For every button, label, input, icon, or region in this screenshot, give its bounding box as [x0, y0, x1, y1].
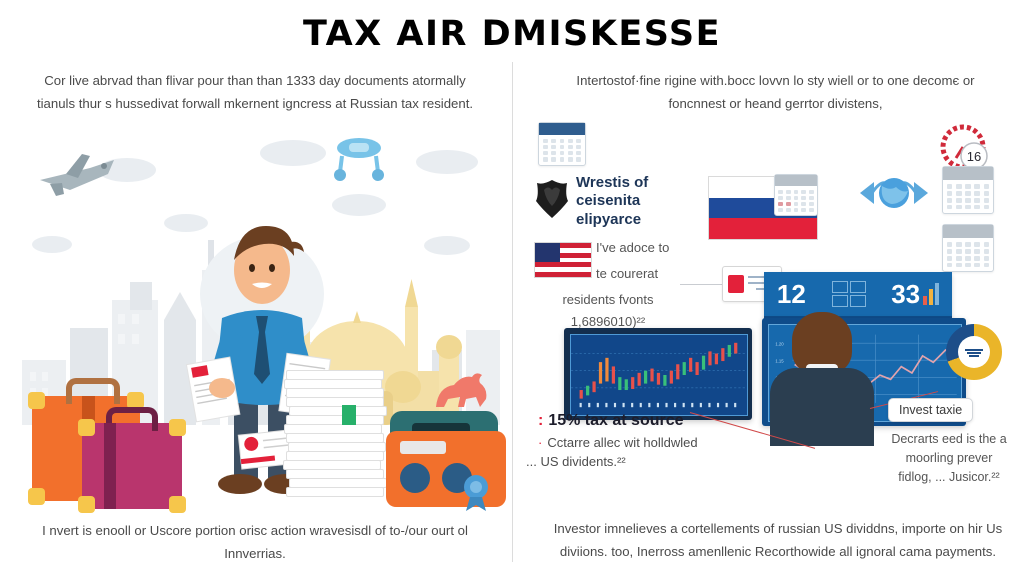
drone-icon [330, 134, 388, 184]
infographic-page: TAX AIR DMISKESSE Cor live abrvad than f… [0, 0, 1024, 585]
bullet-marker: : [538, 412, 543, 429]
page-title: TAX AIR DMISKESSE [0, 14, 1024, 54]
stat-tail: ... US dividents.²² [526, 453, 756, 472]
bar-chart-icon [923, 283, 939, 305]
left-illustration [14, 128, 506, 513]
left-intro-paragraph: Cor live abrvad than flivar pour than th… [30, 70, 480, 115]
toy-horse-icon [430, 369, 492, 413]
us-label-line-3: residents fvonts [528, 290, 688, 310]
suitcase-strap [104, 423, 116, 509]
usa-flag-icon [534, 242, 592, 278]
bullet-dot: · [538, 435, 542, 450]
candlestick-chart [570, 334, 748, 416]
calendar-icon [942, 166, 994, 214]
column-divider [512, 62, 513, 562]
calendar-icon [774, 174, 818, 216]
svg-text:16: 16 [967, 149, 981, 164]
russia-label: Wrestis of ceisenita elipyarce [576, 174, 694, 229]
donut-chart-icon [946, 324, 1002, 380]
airplane-icon [36, 150, 122, 202]
connector-line [680, 284, 722, 285]
invest-callout-chip[interactable]: Invest taxie [888, 398, 973, 422]
calendar-icon [942, 224, 994, 272]
right-illustration: 16 Uclent Wrestis of ceisenita elipyarce [518, 112, 1018, 512]
right-intro-paragraph: Intertostof·fine rigine with.bocc lovvn … [548, 70, 1003, 115]
dashboard-right-number: 33 [891, 279, 920, 310]
award-rosette-icon [460, 473, 492, 513]
right-outro-paragraph: Investor imnelieves a cortellements of r… [548, 518, 1008, 563]
investor-silhouette [770, 312, 874, 446]
left-outro-paragraph: I nvert is enooll or Uscore portion oris… [30, 520, 480, 565]
cloud-shape [416, 150, 478, 174]
us-label-line-2: te courerat [596, 264, 704, 284]
dashboard-left-number: 12 [777, 279, 806, 310]
document-stack [286, 367, 382, 497]
green-tab-marker [342, 405, 356, 425]
globe-icon [858, 170, 930, 216]
cloud-shape [260, 140, 326, 166]
us-label-line-1: I've adoce to [596, 238, 704, 258]
suitcase-magenta [82, 423, 182, 509]
trading-monitor-left [564, 328, 752, 420]
calendar-icon [538, 122, 586, 166]
grid-icon [832, 281, 866, 307]
invest-callout-body: Decrarts eed is the a moorling prever fi… [890, 430, 1008, 486]
dashboard-header: 12 33 [764, 272, 952, 316]
stat-bullet: ·Cctarre allec wit holldwled [538, 434, 756, 453]
coat-of-arms-icon [532, 178, 572, 220]
